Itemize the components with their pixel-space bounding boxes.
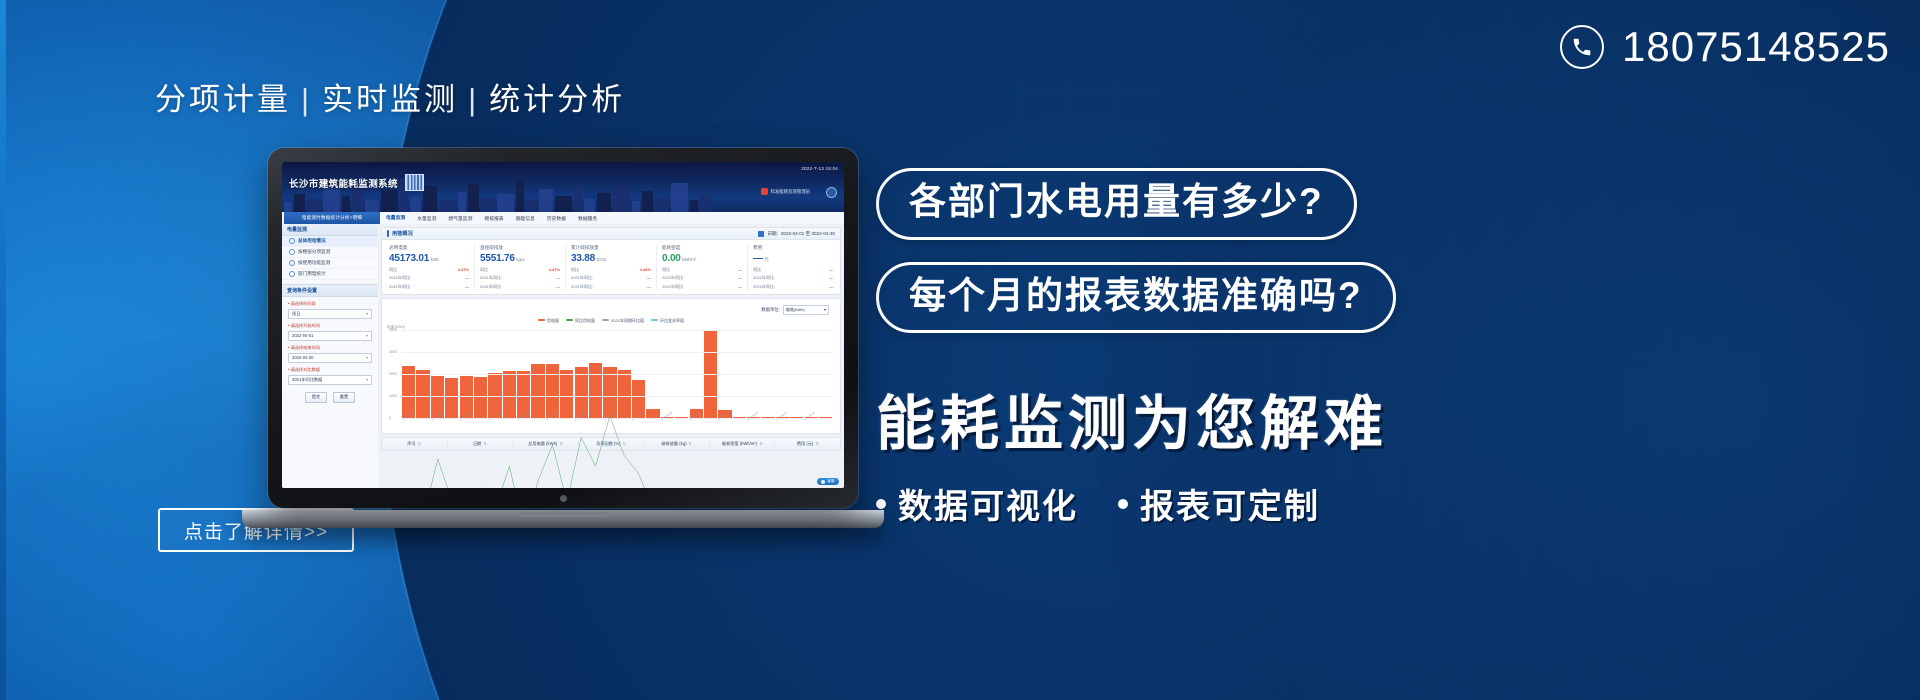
- legend-label: 同比用电量: [575, 318, 595, 323]
- nav-tab-0[interactable]: 电量监测: [380, 212, 411, 225]
- dashboard-main: 用能概况 日期: 2022-04-01 至 2022-04-30 总用电量451…: [378, 224, 844, 488]
- overview-card-title: 用能概况: [387, 230, 413, 237]
- kpi-row-label: 2021年同比:: [480, 284, 502, 290]
- sidebar-field-value: 2022-04-01: [292, 333, 313, 338]
- laptop-screen: 长沙市建筑能耗监测系统 2022-7-13 15:04 科发能耗监测管理员 电能…: [282, 162, 844, 488]
- kpi-row-value: 4.46%: [640, 267, 651, 273]
- feature-bullets: 数据可视化 报表可定制: [876, 479, 1886, 528]
- kpi-row-0: 同比4.47%: [389, 267, 469, 273]
- kpi-row-0: 同比—: [753, 267, 833, 273]
- background-left-edge: [0, 0, 6, 700]
- kpi-row-value: —: [829, 275, 833, 281]
- sidebar-field-value: 逐日: [292, 311, 300, 317]
- kpi-row-value: —: [647, 284, 651, 290]
- sidebar-item-1[interactable]: 按楼层分项监测: [282, 247, 378, 258]
- sidebar-group-title-2: 查询条件设置: [282, 284, 378, 297]
- legend-label: 用电量: [547, 318, 559, 323]
- kpi-row-value: —: [738, 284, 742, 290]
- kpi-row-label: 同比: [662, 267, 670, 273]
- main-headline: 能耗监测为您解难: [876, 393, 1886, 457]
- kpi-card-4: 费用—元同比—2021年同比:—2021年同比:—: [748, 245, 838, 290]
- chart-y-tick: 2000: [389, 372, 397, 376]
- sidebar-field-value: 2022-04-30: [292, 355, 313, 360]
- sidebar-field-3: • 请选择对比数据2021年同比数据▾: [288, 367, 372, 385]
- slogan-part-3: 统计分析: [489, 82, 625, 117]
- kpi-row-value: —: [647, 275, 651, 281]
- slogan-separator-1: |: [291, 82, 322, 117]
- overview-card-header: 用能概况 日期: 2022-04-01 至 2022-04-30: [382, 228, 840, 240]
- kpi-row-label: 同比: [571, 267, 579, 273]
- legend-item-1[interactable]: 同比用电量: [566, 318, 595, 324]
- sidebar-item-list: 总体用电情况按楼层分项监测按使用功能监测部门用电统计: [282, 236, 378, 280]
- date-range-display[interactable]: 日期: 2022-04-01 至 2022-04-30: [758, 231, 835, 237]
- kpi-row-label: 2021年同比:: [389, 284, 411, 290]
- kpi-row-0: 同比4.46%: [571, 267, 651, 273]
- chart-y-tick: 1000: [389, 394, 397, 398]
- chart-legend: 用电量同比用电量2021年同期环比值环比变化率值: [387, 318, 835, 324]
- slogan-part-2: 实时监测: [322, 82, 458, 117]
- overview-card: 用能概况 日期: 2022-04-01 至 2022-04-30 总用电量451…: [381, 227, 841, 295]
- nav-tab-2[interactable]: 燃气量监测: [442, 212, 478, 224]
- sidebar-field-input[interactable]: 逐日▾: [288, 309, 372, 320]
- sidebar-item-3[interactable]: 部门用电统计: [282, 269, 378, 280]
- kpi-row-1: 2021年同比:—: [571, 275, 651, 281]
- kpi-unit: kgce: [516, 257, 524, 262]
- kpi-title: 费用: [753, 245, 833, 251]
- kpi-unit: tCO2: [597, 257, 606, 262]
- bullet-dot-icon: [876, 499, 886, 509]
- kpi-row-value: 4.47%: [458, 267, 469, 273]
- kpi-row-value: —: [829, 284, 833, 290]
- kpi-value: 0.00kWh/m²: [662, 253, 742, 264]
- kpi-row-value: —: [465, 275, 469, 281]
- feature-bullet-1-label: 数据可视化: [898, 479, 1078, 528]
- calendar-icon: [758, 231, 764, 237]
- dashboard-sidebar: 电量监测 总体用电情况按楼层分项监测按使用功能监测部门用电统计 查询条件设置 •…: [282, 224, 379, 488]
- kpi-card-1: 直接碳排放5551.76kgce同比4.47%2021年同比:—2021年同比:…: [475, 245, 566, 290]
- bullet-icon: [289, 260, 295, 266]
- kpi-row-label: 2021年同比:: [662, 284, 684, 290]
- sidebar-button-1[interactable]: 重置: [333, 392, 355, 403]
- feature-bullet-1: 数据可视化: [876, 479, 1078, 528]
- kpi-value: 5551.76kgce: [480, 253, 560, 264]
- legend-label: 环比变化率值: [660, 318, 684, 323]
- sidebar-item-label: 按楼层分项监测: [298, 249, 330, 255]
- kpi-row-label: 2021年同比:: [662, 275, 684, 281]
- chevron-down-icon: ▾: [366, 377, 368, 382]
- slogan-part-1: 分项计量: [155, 82, 291, 117]
- laptop-mockup: 长沙市建筑能耗监测系统 2022-7-13 15:04 科发能耗监测管理员 电能…: [268, 148, 858, 508]
- sidebar-item-2[interactable]: 按使用功能监测: [282, 258, 378, 269]
- chart-line-0: [409, 415, 825, 488]
- kpi-unit: kWh: [431, 257, 439, 262]
- kpi-row-2: 2021年同比:—: [480, 284, 560, 290]
- avatar: [761, 188, 768, 195]
- system-title: 长沙市建筑能耗监测系统: [289, 176, 398, 190]
- sidebar-field-input[interactable]: 2021年同比数据▾: [288, 375, 372, 386]
- date-label: 日期:: [767, 231, 777, 237]
- legend-swatch: [538, 319, 545, 321]
- promo-banner: 分项计量|实时监测|统计分析 18075148525 各部门水电用量有多少? 每…: [0, 0, 1920, 700]
- legend-item-0[interactable]: 用电量: [538, 318, 559, 324]
- feature-bullet-2-label: 报表可定制: [1140, 479, 1320, 528]
- sidebar-field-label: • 请选择结束时间: [288, 345, 372, 351]
- kpi-row-label: 2021年同比:: [753, 275, 775, 281]
- sidebar-group-title-1: 电量监测: [282, 224, 378, 236]
- sidebar-field-label: • 请选择时间段: [288, 301, 372, 307]
- nav-tab-5[interactable]: 历史数据: [541, 212, 572, 224]
- bullet-icon: [289, 271, 295, 277]
- legend-item-3[interactable]: 环比变化率值: [651, 318, 684, 324]
- kpi-card-2: 累计碳排放量33.88tCO2同比4.46%2021年同比:—2021年同比:—: [566, 245, 657, 290]
- hero-user-label: 科发能耗监测管理员: [770, 189, 810, 195]
- laptop-base: [242, 510, 884, 528]
- unit-selector-row: 数据单位: 能耗(kWh) ▾: [387, 303, 835, 318]
- kpi-row-value: 4.47%: [549, 267, 560, 273]
- question-pill-2: 每个月的报表数据准确吗?: [876, 262, 1396, 334]
- kpi-card-3: 能耗密度0.00kWh/m²同比—2021年同比:—2021年同比:—: [657, 245, 748, 290]
- nav-tab-4[interactable]: 基础信息: [510, 212, 541, 224]
- legend-swatch: [566, 319, 573, 321]
- bullet-icon: [289, 238, 295, 244]
- legend-swatch: [602, 319, 609, 321]
- kpi-row-label: 2021年同比:: [571, 284, 593, 290]
- chart-card: 数据单位: 能耗(kWh) ▾ 用电量同比用电量2021年同期环比值环比变化率值…: [381, 298, 841, 434]
- background-grid-pattern: [1020, 0, 1640, 190]
- sidebar-item-0[interactable]: 总体用电情况: [282, 236, 378, 247]
- phone-circle-icon: [1560, 25, 1604, 69]
- kpi-row-label: 2021年同比:: [389, 275, 411, 281]
- nav-tab-6[interactable]: 数据服务: [572, 212, 603, 224]
- support-fab-button[interactable]: 客服: [817, 478, 839, 485]
- building-logo-icon: [405, 174, 424, 191]
- sidebar-field-label: • 请选择对比数据: [288, 367, 372, 373]
- sidebar-field-value: 2021年同比数据: [292, 377, 322, 383]
- phone-number: 18075148525: [1622, 26, 1890, 68]
- hero-user[interactable]: 科发能耗监测管理员: [761, 188, 810, 195]
- breadcrumb: 电能逐时数据统计分析>明细: [284, 212, 380, 224]
- kpi-title: 累计碳排放量: [571, 245, 651, 251]
- kpi-title: 直接碳排放: [480, 245, 560, 251]
- chart-y-tick: 0: [389, 416, 391, 420]
- sidebar-field-input[interactable]: 2022-04-30▾: [288, 353, 372, 364]
- kpi-row-value: —: [465, 284, 469, 290]
- sidebar-field-1: • 请选择开始时间2022-04-01▾: [288, 323, 372, 341]
- sidebar-field-2: • 请选择结束时间2022-04-30▾: [288, 345, 372, 363]
- kpi-row-value: —: [556, 275, 560, 281]
- contact-phone[interactable]: 18075148525: [1560, 25, 1890, 69]
- chart-y-tick: 3000: [389, 350, 397, 354]
- chevron-down-icon: ▾: [366, 355, 368, 360]
- sidebar-item-label: 部门用电统计: [298, 271, 326, 277]
- kpi-row-2: 2021年同比:—: [753, 284, 833, 290]
- sidebar-field-list: • 请选择时间段逐日▾• 请选择开始时间2022-04-01▾• 请选择结束时间…: [282, 301, 378, 385]
- chevron-down-icon: ▾: [366, 333, 368, 338]
- legend-label: 2021年同期环比值: [611, 318, 644, 323]
- sidebar-item-label: 总体用电情况: [298, 238, 326, 244]
- headset-icon: [821, 480, 825, 484]
- unit-label: 数据单位:: [761, 307, 780, 313]
- kpi-unit: 元: [764, 257, 768, 262]
- slogan-separator-2: |: [458, 82, 489, 117]
- kpi-row-value: —: [738, 275, 742, 281]
- chevron-down-icon: ▾: [824, 307, 826, 312]
- sidebar-field-label: • 请选择开始时间: [288, 323, 372, 329]
- legend-swatch: [651, 319, 658, 321]
- kpi-row-1: 2021年同比:—: [662, 275, 742, 281]
- kpi-row-value: —: [738, 267, 742, 273]
- kpi-row-label: 2021年同比:: [753, 284, 775, 290]
- kpi-row-0: 同比—: [662, 267, 742, 273]
- dashboard: 长沙市建筑能耗监测系统 2022-7-13 15:04 科发能耗监测管理员 电能…: [282, 162, 844, 488]
- sidebar-field-0: • 请选择时间段逐日▾: [288, 301, 372, 319]
- nav-tab-3[interactable]: 模核报表: [478, 212, 509, 224]
- kpi-row-label: 同比: [389, 267, 397, 273]
- kpi-row-label: 同比: [480, 267, 488, 273]
- right-content-column: 各部门水电用量有多少? 每个月的报表数据准确吗? 能耗监测为您解难 数据可视化 …: [876, 168, 1886, 528]
- question-pill-1: 各部门水电用量有多少?: [876, 168, 1357, 240]
- kpi-row-1: 2021年同比:—: [753, 275, 833, 281]
- sidebar-item-label: 按使用功能监测: [298, 260, 330, 266]
- unit-select[interactable]: 能耗(kWh) ▾: [783, 305, 829, 315]
- dashboard-hero: 长沙市建筑能耗监测系统 2022-7-13 15:04 科发能耗监测管理员: [282, 162, 844, 212]
- kpi-row-2: 2021年同比:—: [662, 284, 742, 290]
- chart-lines: [402, 330, 832, 489]
- legend-item-2[interactable]: 2021年同期环比值: [602, 318, 644, 324]
- kpi-value: 45173.01kWh: [389, 253, 469, 264]
- kpi-row-1: 2021年同比:—: [389, 275, 469, 281]
- title-bar-icon: [387, 230, 389, 237]
- support-fab-label: 客服: [827, 479, 834, 484]
- feature-bullet-2: 报表可定制: [1118, 479, 1320, 528]
- unit-select-value: 能耗(kWh): [786, 307, 805, 313]
- sidebar-button-0[interactable]: 提交: [305, 392, 327, 403]
- bullet-icon: [289, 249, 295, 255]
- nav-tab-1[interactable]: 水量监测: [411, 212, 442, 224]
- kpi-value: —元: [753, 253, 833, 264]
- chart-plot-area: 电量 (kWh) 2022-04-012022-04-032022-04-052…: [387, 326, 835, 430]
- chart-y-tick: 4000: [389, 328, 397, 332]
- date-range-value: 2022-04-01 至 2022-04-30: [781, 231, 835, 237]
- kpi-row-label: 2021年同比:: [571, 275, 593, 281]
- kpi-row-label: 2021年同比:: [480, 275, 502, 281]
- kpi-row-2: 2021年同比:—: [571, 284, 651, 290]
- kpi-row-2: 2021年同比:—: [389, 284, 469, 290]
- sidebar-field-input[interactable]: 2022-04-01▾: [288, 331, 372, 342]
- kpi-row-0: 同比4.47%: [480, 267, 560, 273]
- bullet-dot-icon: [1118, 499, 1128, 509]
- nav-tab-list: 电量监测水量监测燃气量监测模核报表基础信息历史数据数据服务: [380, 212, 603, 225]
- overview-title-label: 用能概况: [392, 230, 413, 237]
- hero-timestamp: 2022-7-13 15:04: [801, 166, 838, 171]
- kpi-row-1: 2021年同比:—: [480, 275, 560, 281]
- kpi-title: 能耗密度: [662, 245, 742, 251]
- banner-slogan: 分项计量|实时监测|统计分析: [155, 74, 625, 119]
- kpi-unit: kWh/m²: [682, 257, 696, 262]
- kpi-title: 总用电量: [389, 245, 469, 251]
- kpi-row: 总用电量45173.01kWh同比4.47%2021年同比:—2021年同比:—…: [382, 240, 840, 294]
- kpi-card-0: 总用电量45173.01kWh同比4.47%2021年同比:—2021年同比:—: [384, 245, 475, 290]
- sidebar-buttons: 提交重置: [282, 392, 378, 403]
- kpi-row-value: —: [829, 267, 833, 273]
- kpi-row-value: —: [556, 284, 560, 290]
- chevron-down-icon: ▾: [366, 311, 368, 316]
- gear-icon[interactable]: [826, 187, 837, 198]
- kpi-row-label: 同比: [753, 267, 761, 273]
- kpi-value: 33.88tCO2: [571, 253, 651, 264]
